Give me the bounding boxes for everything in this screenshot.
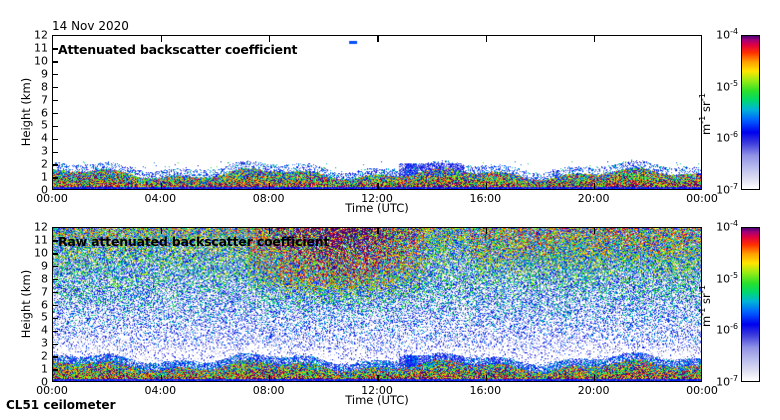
x-tick-mark xyxy=(486,228,487,234)
y-tick-label: 10 xyxy=(34,55,48,66)
y-tick-label: 3 xyxy=(41,338,48,349)
panel-caption-bottom: Raw attenuated backscatter coefficient xyxy=(58,234,329,249)
ceilometer-quicklook: 14 Nov 2020 1211109876543210 Height (km)… xyxy=(0,0,780,420)
y-tick-label: 2 xyxy=(41,351,48,362)
panel-raw-attenuated-backscatter[interactable]: Raw attenuated backscatter coefficient xyxy=(52,227,702,382)
y-tick-label: 8 xyxy=(41,81,48,92)
colorbar-tick-label: 10-7 xyxy=(716,376,738,389)
x-tick-mark xyxy=(377,228,378,234)
y-tick-label: 12 xyxy=(34,30,48,41)
colorbar-tick-label: 10-6 xyxy=(716,132,738,145)
panel-caption-top: Attenuated backscatter coefficient xyxy=(58,42,297,57)
x-tick-mark xyxy=(486,375,487,381)
y-tick-mark xyxy=(53,253,58,254)
x-tick-mark xyxy=(594,375,595,381)
x-tick-label: 00:00 xyxy=(686,384,718,397)
instrument-footer: CL51 ceilometer xyxy=(6,398,116,412)
y-tick-mark xyxy=(53,266,58,267)
x-tick-label: 16:00 xyxy=(469,384,501,397)
x-tick-mark xyxy=(486,36,487,42)
y-tick-label: 10 xyxy=(34,247,48,258)
y-tick-mark xyxy=(53,74,58,75)
heatmap-top xyxy=(53,36,701,189)
y-tick-mark xyxy=(53,292,58,293)
y-tick-mark xyxy=(53,139,58,140)
y-tick-label: 11 xyxy=(34,42,48,53)
y-tick-mark xyxy=(53,152,58,153)
y-tick-label: 11 xyxy=(34,234,48,245)
y-tick-label: 2 xyxy=(41,159,48,170)
y-tick-mark xyxy=(53,113,58,114)
colorbar-gradient-top xyxy=(742,36,759,189)
y-tick-label: 3 xyxy=(41,146,48,157)
x-tick-label: 08:00 xyxy=(253,384,285,397)
colorbar-tick-label: 10-5 xyxy=(716,272,738,285)
colorbar-tick-label: 10-6 xyxy=(716,324,738,337)
x-tick-label: 08:00 xyxy=(253,192,285,205)
y-tick-label: 1 xyxy=(41,364,48,375)
y-tick-mark xyxy=(53,87,58,88)
colorbar-top xyxy=(741,35,760,190)
colorbar-tick-label: 10-5 xyxy=(716,80,738,93)
y-tick-label: 6 xyxy=(41,299,48,310)
x-tick-mark xyxy=(594,36,595,42)
y-tick-label: 7 xyxy=(41,286,48,297)
y-tick-label: 6 xyxy=(41,107,48,118)
colorbar-gradient-bottom xyxy=(742,228,759,381)
x-tick-mark xyxy=(161,183,162,189)
y-tick-label: 4 xyxy=(41,133,48,144)
y-tick-label: 5 xyxy=(41,120,48,131)
y-axis-title-top: Height (km) xyxy=(19,64,33,160)
x-tick-label: 00:00 xyxy=(36,192,68,205)
heatmap-bottom xyxy=(53,228,701,381)
x-tick-mark xyxy=(269,183,270,189)
x-tick-mark xyxy=(486,183,487,189)
y-tick-mark xyxy=(53,177,58,178)
y-tick-mark xyxy=(53,305,58,306)
x-tick-mark xyxy=(377,375,378,381)
y-tick-label: 7 xyxy=(41,94,48,105)
y-axis-title-bottom: Height (km) xyxy=(19,256,33,352)
colorbar-tick-label: 10-7 xyxy=(716,184,738,197)
x-tick-label: 12:00 xyxy=(361,192,393,205)
plot-area-top[interactable] xyxy=(53,36,701,189)
x-tick-label: 04:00 xyxy=(144,192,176,205)
x-tick-mark xyxy=(269,375,270,381)
y-tick-mark xyxy=(53,164,58,165)
y-tick-label: 12 xyxy=(34,222,48,233)
y-tick-label: 9 xyxy=(41,260,48,271)
x-tick-label: 20:00 xyxy=(578,192,610,205)
x-tick-mark xyxy=(594,183,595,189)
y-tick-label: 4 xyxy=(41,325,48,336)
y-tick-mark xyxy=(53,369,58,370)
y-tick-mark xyxy=(53,356,58,357)
date-title: 14 Nov 2020 xyxy=(52,19,129,33)
x-tick-label: 04:00 xyxy=(144,384,176,397)
panel-attenuated-backscatter[interactable]: Attenuated backscatter coefficient xyxy=(52,35,702,190)
y-tick-mark xyxy=(53,126,58,127)
x-tick-mark xyxy=(377,183,378,189)
x-tick-label: 00:00 xyxy=(686,192,718,205)
x-tick-mark xyxy=(594,228,595,234)
x-tick-label: 20:00 xyxy=(578,384,610,397)
x-tick-label: 00:00 xyxy=(36,384,68,397)
colorbar-unit-top: m-1 sr-1 xyxy=(699,69,713,159)
y-tick-label: 1 xyxy=(41,172,48,183)
colorbar-bottom xyxy=(741,227,760,382)
x-tick-mark xyxy=(377,36,378,42)
x-tick-label: 16:00 xyxy=(469,192,501,205)
y-tick-mark xyxy=(53,100,58,101)
y-tick-label: 5 xyxy=(41,312,48,323)
y-tick-mark xyxy=(53,279,58,280)
x-tick-label: 12:00 xyxy=(361,384,393,397)
y-tick-mark xyxy=(53,331,58,332)
colorbar-tick-label: 10-4 xyxy=(716,29,738,42)
y-tick-label: 8 xyxy=(41,273,48,284)
plot-area-bottom[interactable] xyxy=(53,228,701,381)
colorbar-unit-bottom: m-1 sr-1 xyxy=(699,261,713,351)
colorbar-tick-label: 10-4 xyxy=(716,221,738,234)
y-tick-mark xyxy=(53,344,58,345)
y-tick-mark xyxy=(53,61,58,62)
y-tick-mark xyxy=(53,318,58,319)
x-tick-mark xyxy=(161,375,162,381)
y-tick-label: 9 xyxy=(41,68,48,79)
